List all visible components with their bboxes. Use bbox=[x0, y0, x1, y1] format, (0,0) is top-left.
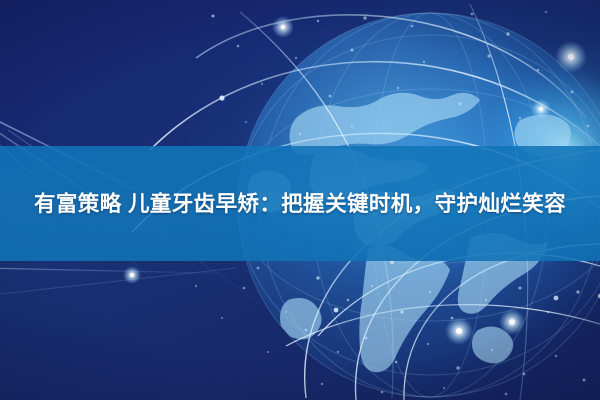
title-strip: 有富策略 儿童牙齿早矫：把握关键时机，守护灿烂笑容 bbox=[0, 146, 600, 261]
banner-headline: 有富策略 儿童牙齿早矫：把握关键时机，守护灿烂笑容 bbox=[14, 186, 586, 222]
promo-banner: 有富策略 儿童牙齿早矫：把握关键时机，守护灿烂笑容 bbox=[0, 0, 600, 400]
